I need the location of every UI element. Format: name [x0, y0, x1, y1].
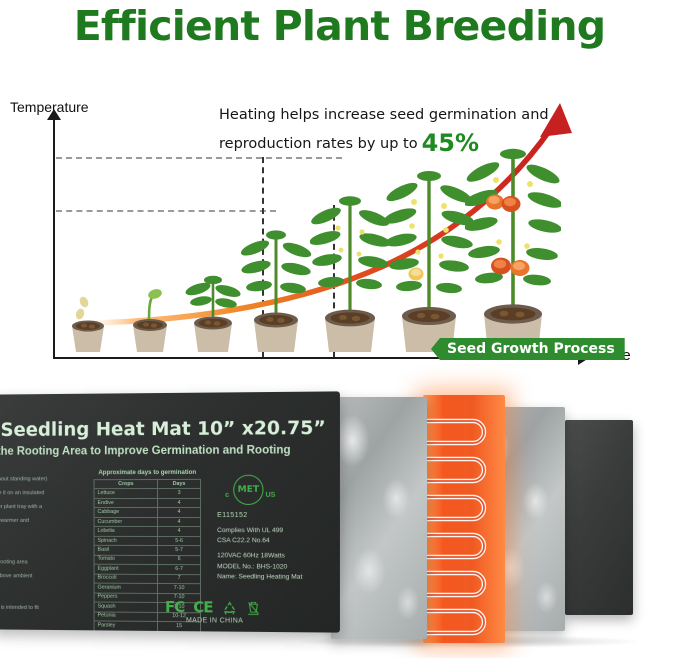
crop-name-cell: Petunia — [94, 612, 158, 622]
instruction-line — [0, 586, 91, 591]
product-name: Seedling Heat Mat 10” x20.75” — [1, 418, 326, 441]
table-row: Lobelia4 — [94, 527, 200, 537]
table-row: Spinach5-6 — [94, 536, 200, 546]
crop-name-cell: Endive — [94, 498, 158, 507]
cert-csa: CSA C22.2 No.64 — [217, 536, 335, 547]
met-logo-icon: MET — [233, 475, 263, 505]
table-row: Parsley15 — [94, 621, 200, 631]
days-cell: 5-6 — [158, 536, 201, 546]
days-cell: 4 — [158, 527, 201, 537]
growth-stage-1 — [62, 284, 114, 359]
table-row: Basil5-7 — [94, 546, 200, 556]
cert-model: MODEL No.: BHS-1020 — [217, 562, 335, 573]
days-cell: 7 — [158, 574, 201, 584]
days-cell: 6-7 — [158, 565, 201, 575]
heating-element-layer — [423, 395, 505, 643]
table-row: Cucumber4 — [94, 517, 200, 527]
table-row: Cabbage4 — [94, 508, 200, 518]
stage-6-flowering-graphic — [385, 164, 473, 354]
met-mark: MET c US — [215, 475, 335, 509]
instruction-line: way. — [0, 618, 91, 628]
crop-name-cell: Lettuce — [94, 489, 158, 499]
met-mark-c: c — [225, 492, 229, 499]
cert-complies: Complies With UL 499 — [217, 526, 335, 536]
fcc-icon: FC — [165, 598, 184, 616]
days-cell: 3 — [158, 489, 201, 499]
made-in-label: MADE IN CHINA — [186, 617, 243, 625]
cert-file-number: E115152 — [217, 512, 335, 519]
days-cell: 4 — [158, 517, 201, 527]
crop-name-cell: Geranium — [94, 583, 158, 593]
stage-7-fruiting-graphic — [465, 146, 561, 354]
instruction-line: wer source. — [0, 545, 91, 554]
instruction-line: eratures, place it on an insulated — [0, 489, 91, 498]
crop-name-cell: Parsley — [94, 621, 158, 631]
table-row: Lettuce3 — [94, 489, 200, 499]
heating-coil-icon — [423, 395, 505, 643]
days-cell: 4 — [158, 508, 201, 518]
table-row: Eggplant6-7 — [94, 565, 200, 575]
tomato-cluster-upper — [486, 194, 521, 212]
growth-stage-4 — [240, 212, 312, 359]
days-cell: 7-10 — [158, 584, 201, 594]
instruction-line: . Covering your plant tray with a — [0, 503, 91, 512]
instruction-line: ting — [0, 531, 91, 540]
table-row: Tomato6 — [94, 555, 200, 565]
days-cell: 6 — [158, 555, 201, 565]
outer-dark-panel-right — [565, 420, 633, 615]
table-row: Endive4 — [94, 498, 200, 508]
instruction-line: t the outlet, reverse the plug — [0, 632, 91, 633]
instruction-line: lens root area warmer and — [0, 517, 91, 526]
germination-table-header: CropsDays — [94, 479, 200, 489]
crop-name-cell: Spinach — [94, 536, 158, 546]
days-cell: 4 — [158, 498, 201, 508]
compliance-marks: FC CE — [165, 598, 260, 617]
product-section: Seedling Heat Mat 10” x20.75” rms the Ro… — [0, 383, 679, 658]
germination-col-header: Days — [158, 479, 201, 489]
instruction-line — [0, 595, 91, 600]
stage-5-vegetative-graphic — [310, 184, 390, 354]
growth-chart: Temperature Time Heating helps increase … — [0, 95, 679, 380]
table-row: Broccoli7 — [94, 574, 200, 584]
tomato-cluster-lower — [491, 258, 530, 276]
product-instructions: d surface (without standing water)eratur… — [0, 475, 91, 632]
instruction-line: d surface (without standing water) — [0, 475, 91, 484]
crop-name-cell: Cucumber — [94, 517, 158, 527]
germination-table-caption: Approximate days to germination — [94, 469, 201, 476]
days-cell: 5-7 — [158, 546, 201, 556]
growth-stage-5 — [310, 184, 390, 359]
stage-3-seedling-graphic — [182, 249, 244, 354]
stage-2-sprout-graphic — [122, 269, 178, 354]
product-subtitle: rms the Rooting Area to Improve Germinat… — [0, 444, 291, 457]
crop-name-cell: Basil — [94, 546, 158, 556]
growth-stage-7 — [465, 146, 561, 359]
product-label-panel: Seedling Heat Mat 10” x20.75” rms the Ro… — [0, 391, 340, 632]
crop-name-cell: Squash — [94, 602, 158, 612]
instruction-line: gned to raise rooting area — [0, 559, 91, 568]
growth-stage-3 — [182, 249, 244, 359]
cert-device-name: Name: Seedling Heating Mat — [217, 572, 335, 583]
instruction-line: tlock, the plug is intended to fit — [0, 604, 91, 614]
crop-name-cell: Peppers — [94, 593, 158, 603]
crop-name-cell: Cabbage — [94, 508, 158, 517]
cert-electrical: 120VAC 60Hz 18Watts — [217, 552, 335, 563]
ce-icon: CE — [193, 598, 212, 616]
page-title: Efficient Plant Breeding — [0, 2, 679, 50]
certification-block: MET c US E115152 Complies With UL 499 CS… — [215, 475, 335, 584]
germination-col-header: Crops — [94, 480, 158, 490]
met-mark-us: US — [266, 492, 276, 499]
fiber-insulation-front — [331, 397, 427, 639]
crop-name-cell: Eggplant — [94, 565, 158, 575]
crop-name-cell: Tomato — [94, 555, 158, 565]
recycle-icon — [222, 600, 237, 615]
crop-name-cell: Lobelia — [94, 527, 158, 537]
weee-icon — [246, 600, 260, 615]
growth-stage-6 — [385, 164, 473, 359]
crop-name-cell: Broccoli — [94, 574, 158, 584]
stage-1-seed-graphic — [62, 284, 114, 354]
stage-4-young-plant-graphic — [240, 212, 312, 354]
seed-growth-process-banner: Seed Growth Process — [431, 338, 625, 360]
infographic-root: Efficient Plant Breeding Temperature Tim… — [0, 0, 679, 658]
instruction-line: 20°F/5-11°C above ambient — [0, 572, 91, 582]
growth-stage-2 — [122, 269, 178, 359]
